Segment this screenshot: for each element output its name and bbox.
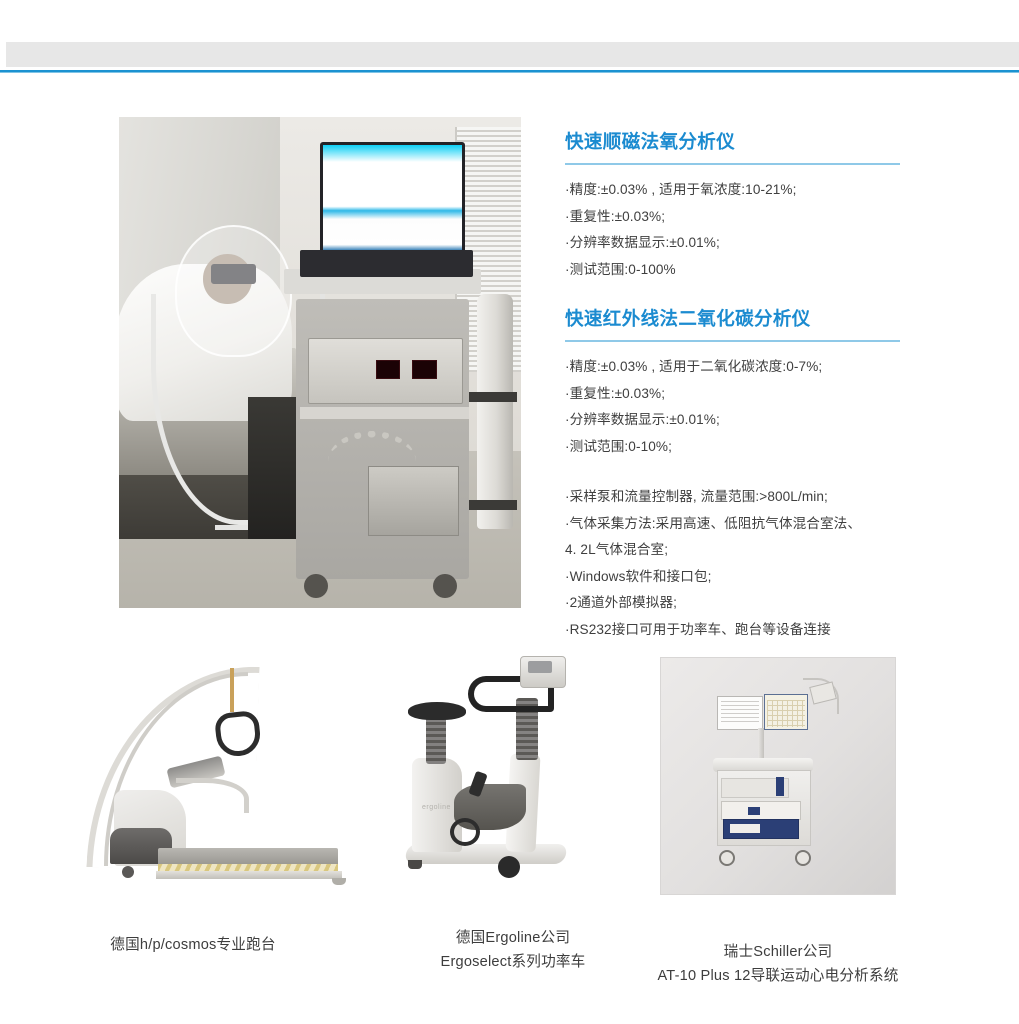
ecg-waveform-screen: [764, 694, 808, 730]
ecg-monitor-pole: [758, 728, 764, 762]
spec-block-oxygen-analyzer: 快速顺磁法氧分析仪 ·精度:±0.03% , 适用于氧浓度:10-21%; ·重…: [565, 128, 965, 283]
sampling-pump: [368, 466, 458, 537]
treadmill-caster: [122, 866, 134, 878]
spec-line: ·采样泵和流量控制器, 流量范围:>800L/min;: [565, 484, 965, 511]
gallery-item-treadmill: 德国h/p/cosmos专业跑台: [18, 650, 368, 920]
bike-console-screen: [528, 661, 552, 673]
hero-photo: [119, 117, 521, 608]
bike-seat-post: [426, 716, 446, 764]
keyboard: [300, 250, 473, 277]
bike-leveling-foot: [408, 860, 422, 869]
cart-caster-right: [433, 574, 457, 599]
caption-line: 德国h/p/cosmos专业跑台: [18, 933, 368, 957]
gas-cylinder-band-upper: [469, 392, 517, 402]
ecg-caster-right: [793, 844, 809, 862]
gas-cylinder: [477, 294, 513, 530]
header-accent-rule-soft: [0, 72, 1019, 73]
spec-title-oxygen-analyzer: 快速顺磁法氧分析仪: [565, 128, 965, 154]
bike-saddle: [408, 702, 466, 720]
spec-line: 4. 2L气体混合室;: [565, 537, 965, 564]
ecg-drawer-accent: [776, 777, 784, 796]
ecg-printer-upper: [721, 801, 801, 820]
caption-line: AT-10 Plus 12导联运动心电分析系统: [624, 964, 932, 988]
spec-line: ·测试范围:0-100%: [565, 257, 965, 284]
ecg-caster-left: [717, 844, 733, 862]
caption-ecg-cart: 瑞士Schiller公司 AT-10 Plus 12导联运动心电分析系统: [624, 940, 932, 988]
spec-line: ·分辨率数据显示:±0.01%;: [565, 407, 965, 434]
caption-treadmill: 德国h/p/cosmos专业跑台: [18, 933, 368, 957]
ecg-cart-photo: [660, 657, 896, 895]
led-display-oxygen: [376, 360, 400, 379]
spec-block-co2-analyzer: 快速红外线法二氧化碳分析仪 ·精度:±0.03% , 适用于二氧化碳浓度:0-7…: [565, 305, 965, 460]
spec-line: ·气体采集方法:采用高速、低阻抗气体混合室法、: [565, 511, 965, 538]
cart-caster-left: [304, 574, 328, 599]
spec-column: 快速顺磁法氧分析仪 ·精度:±0.03% , 适用于氧浓度:10-21%; ·重…: [565, 128, 965, 643]
header-band: [6, 42, 1019, 67]
ecg-printer-lower: [723, 819, 799, 839]
spec-title-co2-analyzer: 快速红外线法二氧化碳分析仪: [565, 305, 965, 331]
caption-ergometer-bike: 德国Ergoline公司 Ergoselect系列功率车: [368, 926, 658, 974]
desktop-computer-tower: [248, 397, 296, 539]
treadmill-harness-hook: [230, 668, 234, 712]
led-display-co2: [412, 360, 436, 379]
monitor-screen: [323, 145, 462, 252]
caption-line: 瑞士Schiller公司: [624, 940, 932, 964]
ergometer-bike-photo: ergoline: [368, 648, 658, 900]
spec-divider-co2: [565, 340, 900, 342]
product-gallery: 德国h/p/cosmos专业跑台 ergoline 德国Ergoline公司 E…: [0, 640, 1019, 1000]
bike-pedal: [450, 818, 480, 846]
spec-list-additional: ·采样泵和流量控制器, 流量范围:>800L/min; ·气体采集方法:采用高速…: [565, 484, 965, 643]
gas-cylinder-band-lower: [469, 500, 517, 510]
treadmill-base-rail: [156, 871, 342, 879]
spec-line: ·测试范围:0-10%;: [565, 434, 965, 461]
hero-photo-scene: [119, 117, 521, 608]
spec-line: ·2通道外部模拟器;: [565, 590, 965, 617]
gallery-item-ecg-cart: 瑞士Schiller公司 AT-10 Plus 12导联运动心电分析系统: [660, 657, 896, 923]
bike-transport-wheel: [498, 856, 520, 878]
laptop-monitor: [320, 142, 465, 255]
caption-line: 德国Ergoline公司: [368, 926, 658, 950]
spec-line: ·重复性:±0.03%;: [565, 204, 965, 231]
spec-line: ·分辨率数据显示:±0.01%;: [565, 230, 965, 257]
cart-middle-shelf: [300, 407, 469, 419]
caption-line: Ergoselect系列功率车: [368, 950, 658, 974]
spec-list-oxygen: ·精度:±0.03% , 适用于氧浓度:10-21%; ·重复性:±0.03%;…: [565, 177, 965, 283]
spec-line: ·重复性:±0.03%;: [565, 381, 965, 408]
bike-brand-logo: ergoline: [422, 804, 451, 811]
spec-line: ·精度:±0.03% , 适用于氧浓度:10-21%;: [565, 177, 965, 204]
ecg-report-screen: [717, 696, 763, 730]
gallery-item-ergometer-bike: ergoline 德国Ergoline公司 Ergoselect系列功率车: [368, 648, 658, 923]
spec-line: ·Windows软件和接口包;: [565, 564, 965, 591]
spec-divider-oxygen: [565, 163, 900, 165]
treadmill-photo: [18, 650, 368, 900]
treadmill-foot: [332, 878, 346, 885]
spec-list-co2: ·精度:±0.03% , 适用于二氧化碳浓度:0-7%; ·重复性:±0.03%…: [565, 354, 965, 460]
spec-line: ·精度:±0.03% , 适用于二氧化碳浓度:0-7%;: [565, 354, 965, 381]
